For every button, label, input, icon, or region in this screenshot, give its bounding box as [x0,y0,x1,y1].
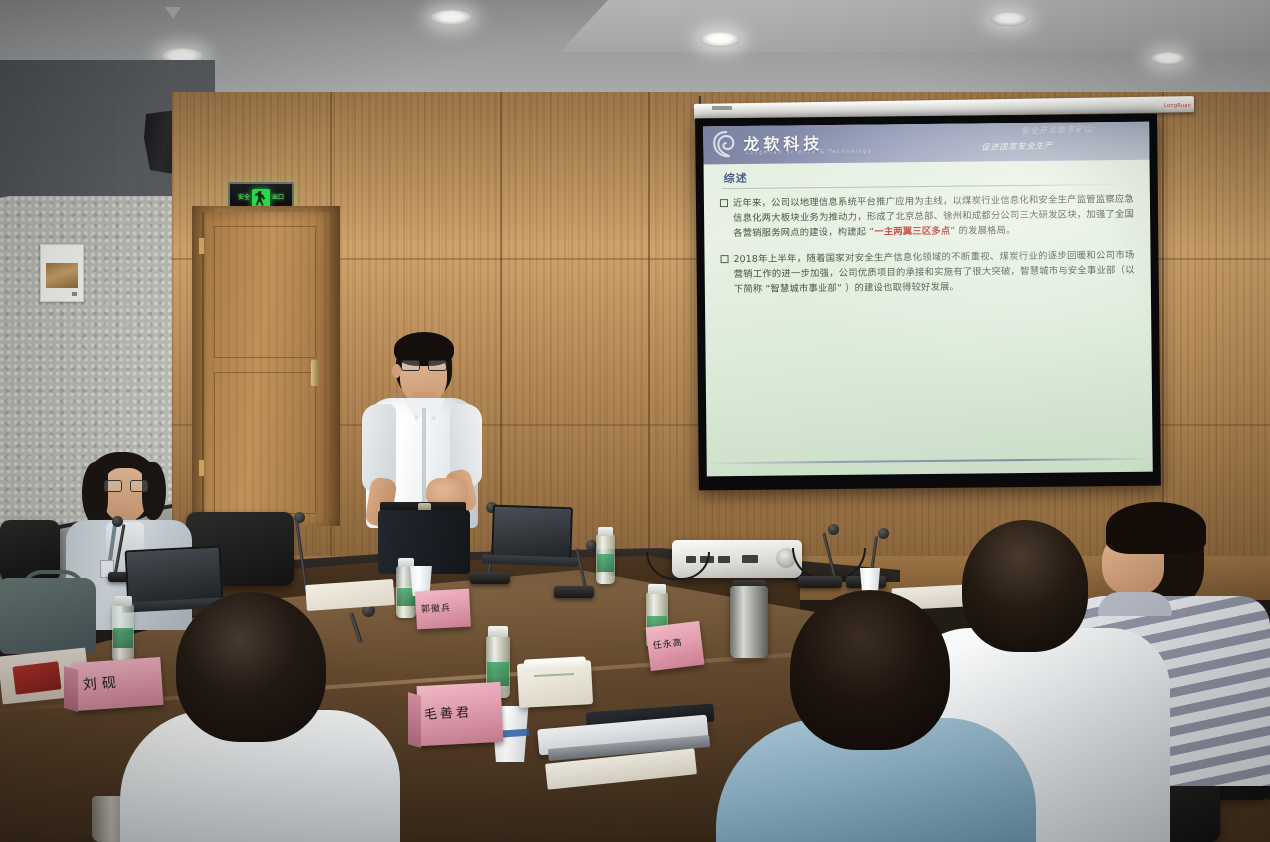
conference-room-scene: 安全 出口 LongRuan 龙软科技 LongRuan Science & T… [0,0,1270,842]
head-back [962,520,1088,652]
nameplate: 任永高 [646,621,705,671]
bottle-cap [488,626,508,637]
running-man-icon [252,189,270,208]
downlight-icon [1150,52,1186,65]
hair-left [82,462,108,524]
red-booklet[interactable] [12,661,61,694]
exit-sign-left-label: 安全 [238,195,250,201]
glasses-icon [401,360,445,370]
slide-bullet-item: 2018年上半年，随着国家对安全生产信息化领域的不断重视、煤炭行业的逐步回暖和公… [720,248,1134,297]
slide-surface: 龙软科技 LongRuan Science & Technology 安全开发数… [703,122,1153,477]
slide-slogan: 促进国家安全生产 [981,140,1053,153]
plaque-inner [46,263,78,288]
head-back [176,592,326,742]
slide-section-title: 综述 [724,170,748,186]
nameplate-label: 任永高 [652,635,683,652]
polo-collar [1098,592,1172,616]
door-hinge [199,460,204,476]
door-handle[interactable] [311,360,319,386]
bottle-cap [598,527,613,536]
bottle-cap [114,596,132,606]
ear [392,364,401,378]
dragon-swirl-logo-icon [711,130,741,160]
downlight-icon [430,10,472,25]
bullet-square-icon [720,255,728,263]
thermos-flask[interactable] [730,586,768,658]
bottle-cap [398,558,414,567]
door-hinge [199,238,204,254]
bullet-text: 2018年上半年，随着国家对安全生产信息化领域的不断重视、煤炭行业的逐步回暖和公… [733,248,1134,297]
projector-port [718,556,730,563]
nameplate: 郭徽兵 [415,589,471,630]
wall-plaque [40,244,84,302]
nameplate-side [64,666,78,712]
slide-bullet-item: 近年来，公司以地理信息系统平台推广应用为主线，以煤炭行业信息化和安全生产监管监察… [720,192,1134,241]
door-panel [214,226,316,358]
door-panel [214,372,316,514]
nameplate-label: 毛善君 [423,701,472,722]
projector-port [742,555,758,563]
ceiling-step [560,0,1270,52]
nameplate: 刘砚 [72,657,163,711]
bullet-text: 近年来，公司以地理信息系统平台推广应用为主线，以煤炭行业信息化和安全生产监管监察… [733,192,1134,241]
nameplate-label: 刘砚 [82,672,121,695]
trousers [378,510,470,574]
slide-slogan-top: 安全开发数字矿山 [1021,124,1093,137]
plaque-button-icon [72,292,77,296]
bullet-square-icon [720,199,728,207]
slide-title-rule [722,184,1126,189]
wood-seam [648,92,650,612]
nameplate-side [408,692,421,748]
housing-brand-label: LongRuan [1164,103,1186,109]
bottle-label [597,554,614,572]
glasses-icon [104,480,146,491]
nameplate: 毛善君 [416,682,503,746]
hair [1106,502,1206,554]
downlight-icon [990,12,1028,26]
handbag[interactable] [0,578,96,654]
projection-screen: 龙软科技 LongRuan Science & Technology 安全开发数… [695,114,1161,491]
slide-bullet-list: 近年来，公司以地理信息系统平台推广应用为主线，以煤炭行业信息化和安全生产监管监察… [720,192,1135,309]
downlight-icon [700,32,740,47]
slide-footer-rule [707,458,1153,465]
bottle-cap [648,584,666,594]
housing-badge [712,106,732,110]
head-back [790,590,950,750]
bottle-label [113,628,133,648]
nameplate-label: 郭徽兵 [421,601,452,616]
exit-sign-right-label: 出口 [272,195,284,201]
